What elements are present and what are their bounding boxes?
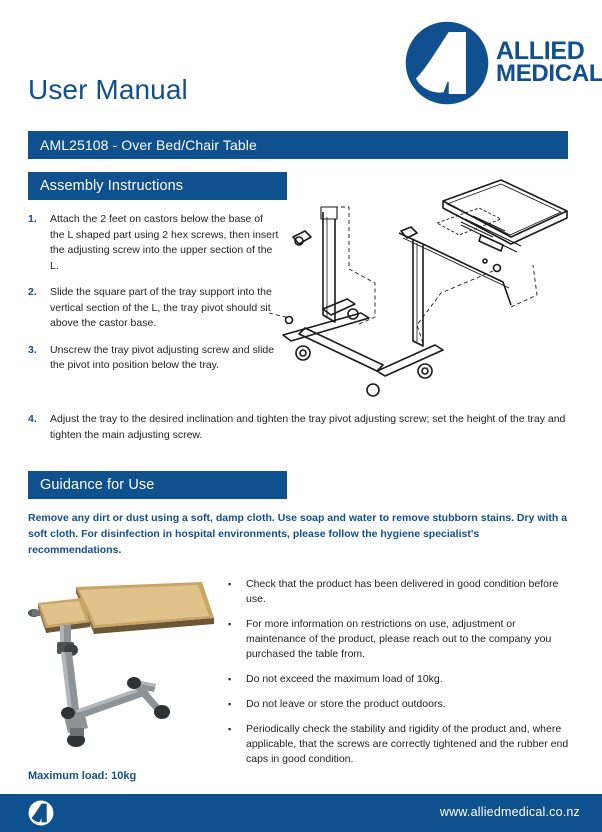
bullet-text: Check that the product has been delivere… bbox=[246, 577, 574, 607]
guidance-bullet-list: ▪ Check that the product has been delive… bbox=[228, 577, 574, 777]
bullet-text: Do not exceed the maximum load of 10kg. bbox=[246, 672, 443, 687]
step-number: 3. bbox=[28, 343, 50, 374]
list-item: ▪ Periodically check the stability and r… bbox=[228, 722, 574, 767]
assembly-steps-list: 1. Attach the 2 feet on castors below th… bbox=[28, 212, 280, 385]
step-text: Unscrew the tray pivot adjusting screw a… bbox=[50, 343, 280, 374]
section-heading-assembly: Assembly Instructions bbox=[28, 172, 287, 200]
list-item: ▪ For more information on restrictions o… bbox=[228, 617, 574, 662]
allied-medical-circle-logo bbox=[28, 800, 54, 826]
exploded-assembly-line-drawing bbox=[265, 175, 585, 400]
list-item: 2. Slide the square part of the tray sup… bbox=[28, 285, 280, 332]
bullet-text: Periodically check the stability and rig… bbox=[246, 722, 574, 767]
bullet-icon: ▪ bbox=[228, 722, 246, 767]
overbed-table-product-photo bbox=[24, 570, 219, 755]
step-number: 2. bbox=[28, 285, 50, 332]
bullet-icon: ▪ bbox=[228, 697, 246, 712]
page-footer: www.alliedmedical.co.nz bbox=[0, 794, 602, 832]
bullet-icon: ▪ bbox=[228, 577, 246, 607]
brand-logo: ALLIED MEDICAL bbox=[404, 20, 576, 106]
bullet-icon: ▪ bbox=[228, 617, 246, 662]
list-item: ▪ Do not leave or store the product outd… bbox=[228, 697, 574, 712]
page-title: User Manual bbox=[28, 74, 188, 106]
step-text: Attach the 2 feet on castors below the b… bbox=[50, 212, 280, 274]
list-item: 3. Unscrew the tray pivot adjusting scre… bbox=[28, 343, 280, 374]
list-item: 1. Attach the 2 feet on castors below th… bbox=[28, 212, 280, 274]
step-text: Adjust the tray to the desired inclinati… bbox=[50, 412, 568, 443]
brand-line-medical: MEDICAL bbox=[496, 63, 602, 85]
footer-website-url[interactable]: www.alliedmedical.co.nz bbox=[440, 805, 580, 819]
manual-page: ALLIED MEDICAL User Manual AML25108 - Ov… bbox=[0, 0, 602, 832]
bullet-text: Do not leave or store the product outdoo… bbox=[246, 697, 446, 712]
cleaning-instructions-note: Remove any dirt or dust using a soft, da… bbox=[28, 510, 573, 558]
list-item: ▪ Do not exceed the maximum load of 10kg… bbox=[228, 672, 574, 687]
list-item: ▪ Check that the product has been delive… bbox=[228, 577, 574, 607]
step-text: Slide the square part of the tray suppor… bbox=[50, 285, 280, 332]
product-title-bar: AML25108 - Over Bed/Chair Table bbox=[28, 131, 568, 159]
allied-medical-circle-logo bbox=[404, 20, 490, 106]
bullet-icon: ▪ bbox=[228, 672, 246, 687]
max-load-label: Maximum load: 10kg bbox=[28, 770, 136, 782]
list-item: 4. Adjust the tray to the desired inclin… bbox=[28, 412, 568, 443]
brand-wordmark: ALLIED MEDICAL bbox=[496, 40, 602, 85]
bullet-text: For more information on restrictions on … bbox=[246, 617, 574, 662]
section-heading-guidance: Guidance for Use bbox=[28, 471, 287, 499]
step-number: 1. bbox=[28, 212, 50, 274]
step-number: 4. bbox=[28, 412, 50, 443]
